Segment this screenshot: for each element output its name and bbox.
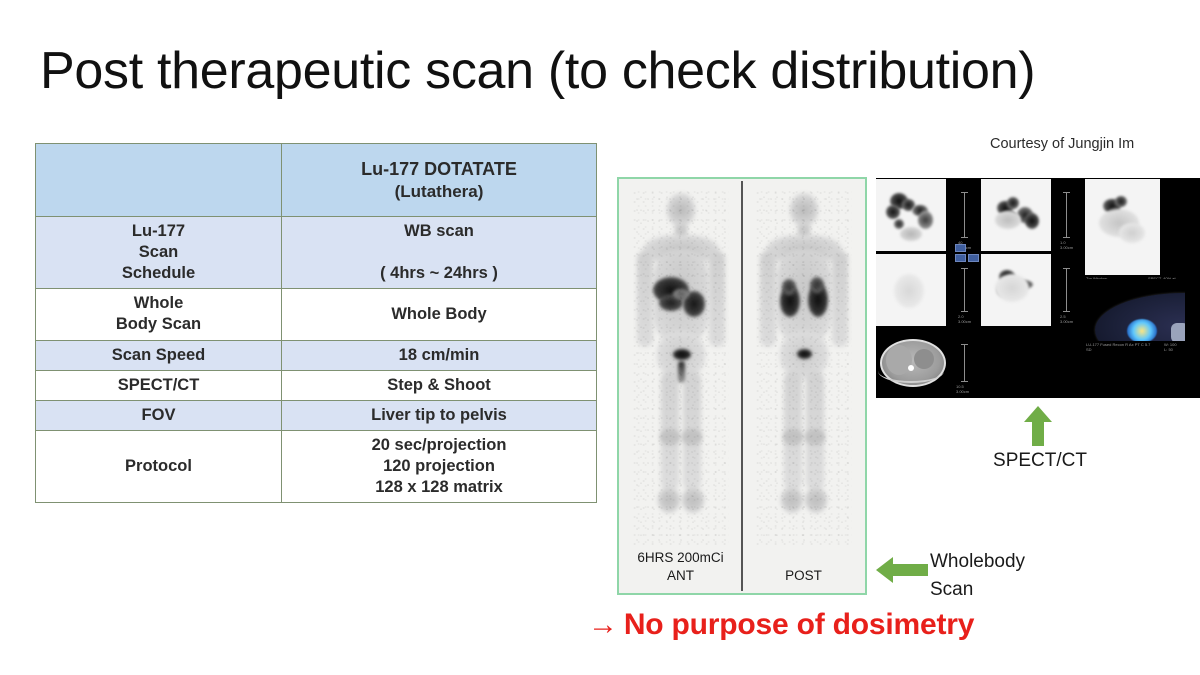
background-tissue (894, 274, 924, 308)
scale-label: 10.5 3.00cm (956, 384, 969, 394)
row-value-protocol: 20 sec/projection 120 projection 128 x 1… (282, 430, 597, 502)
anterior-body-image (633, 191, 729, 547)
fused-footer-label: LU-177 Fused Recon R Ax PT C 5.7 SD (1086, 342, 1150, 352)
dosimetry-note: →No purpose of dosimetry (588, 608, 974, 642)
spect-tile-coronal-4 (981, 254, 1051, 326)
row-label-whole-body-scan: Whole Body Scan (36, 289, 282, 340)
fused-window-label: W: 100 L: 50 (1164, 342, 1177, 352)
head-region (667, 193, 695, 227)
table-row: Lu-177 Scan Schedule WB scan ( 4hrs ~ 24… (36, 217, 597, 289)
spect-tile-coronal-2 (981, 179, 1051, 251)
table-header-row: Lu-177 DOTATATE (Lutathera) (36, 144, 597, 217)
wholebody-scan-panel: 6HRS 200mCi ANT POST (617, 177, 867, 595)
mid-abdomen-uptake-spot (673, 289, 689, 299)
uptake-blob (1025, 213, 1039, 229)
table-row: Scan Speed 18 cm/min (36, 340, 597, 370)
left-arm-region (637, 251, 653, 347)
table-body: Lu-177 DOTATATE (Lutathera) Lu-177 Scan … (36, 144, 597, 503)
right-foot-region (682, 487, 704, 513)
posterior-body-image (756, 191, 852, 547)
bladder-uptake-spot (673, 349, 691, 360)
spect-ct-annotation-label: SPECT/CT (985, 450, 1095, 472)
background-tissue (995, 274, 1029, 302)
left-knee-region (783, 429, 803, 445)
spect-ct-montage: 40 3.00cm 1.0 3.00cm Tm Window SPECT, 40… (876, 178, 1200, 398)
left-foot-region (781, 487, 803, 513)
viewer-control-swatch[interactable] (955, 254, 966, 262)
wholebody-posterior-view: POST (742, 179, 865, 593)
scale-ruler (964, 268, 965, 312)
header-cell-drug: Lu-177 DOTATATE (Lutathera) (282, 144, 597, 217)
right-arrow-icon: → (588, 608, 618, 642)
table-row: Protocol 20 sec/projection 120 projectio… (36, 430, 597, 502)
background-tissue (1119, 223, 1145, 243)
left-knee-region (660, 429, 680, 445)
row-value-whole-body-scan: Whole Body (282, 289, 597, 340)
uptake-blob (1115, 196, 1127, 207)
head-region (790, 193, 818, 227)
bladder-uptake-spot (797, 349, 812, 359)
dosimetry-note-text: No purpose of dosimetry (624, 608, 974, 641)
body-contour (878, 359, 944, 383)
scale-ruler (964, 344, 965, 382)
right-arm-region (832, 251, 848, 347)
right-knee-region (805, 429, 825, 445)
left-kidney-upper-pole-spot (782, 279, 796, 295)
scale-ruler (1066, 192, 1067, 238)
wholebody-annotation-label: Wholebody Scan (930, 548, 1025, 603)
left-arm-region (760, 251, 776, 347)
wholebody-anterior-view: 6HRS 200mCi ANT (619, 179, 742, 593)
table-row: FOV Liver tip to pelvis (36, 400, 597, 430)
background-tissue (995, 211, 1021, 229)
protocol-table: Lu-177 DOTATATE (Lutathera) Lu-177 Scan … (35, 143, 597, 503)
scale-ruler (1066, 268, 1067, 312)
spect-tile-fused-axial (1085, 279, 1185, 341)
drug-brand: (Lutathera) (288, 181, 590, 203)
viewer-control-swatch[interactable] (955, 244, 966, 252)
row-value-scan-speed: 18 cm/min (282, 340, 597, 370)
spect-tile-transverse-1 (1085, 179, 1160, 275)
wholebody-left-arrow-icon (876, 556, 928, 584)
row-label-scan-schedule: Lu-177 Scan Schedule (36, 217, 282, 289)
uptake-blob (894, 219, 904, 229)
viewer-control-swatch[interactable] (968, 254, 979, 262)
right-knee-region (682, 429, 702, 445)
right-foot-region (805, 487, 827, 513)
spect-tile-coronal-1 (876, 179, 946, 251)
right-kidney-upper-pole-spot (810, 277, 824, 293)
view-divider (741, 181, 743, 591)
scale-label: 2.0 3.00cm (958, 314, 971, 324)
header-cell-empty (36, 144, 282, 217)
scale-ruler (964, 192, 965, 238)
row-label-fov: FOV (36, 400, 282, 430)
scale-label: 1.0 3.00cm (1060, 240, 1073, 250)
uptake-blob (1007, 197, 1019, 209)
background-tissue (900, 227, 922, 241)
anterior-caption: 6HRS 200mCi ANT (619, 549, 742, 585)
row-label-scan-speed: Scan Speed (36, 340, 282, 370)
uptake-blob (918, 211, 933, 229)
urethra-uptake-spot (678, 361, 685, 383)
page-title: Post therapeutic scan (to check distribu… (40, 44, 1160, 99)
row-value-spect-ct: Step & Shoot (282, 370, 597, 400)
spect-ct-up-arrow-icon (1023, 406, 1053, 446)
scale-label: 2.5 3.00cm (1060, 314, 1073, 324)
right-arm-region (709, 251, 725, 347)
drug-name: Lu-177 DOTATATE (288, 158, 590, 181)
table-row: Whole Body Scan Whole Body (36, 289, 597, 340)
spect-tile-coronal-3 (876, 254, 946, 326)
row-value-fov: Liver tip to pelvis (282, 400, 597, 430)
row-label-protocol: Protocol (36, 430, 282, 502)
uptake-blob (886, 205, 900, 219)
courtesy-credit: Courtesy of Jungjin Im (990, 136, 1134, 152)
row-label-spect-ct: SPECT/CT (36, 370, 282, 400)
row-value-scan-schedule: WB scan ( 4hrs ~ 24hrs ) (282, 217, 597, 289)
spect-tile-ct-axial (876, 331, 946, 397)
posterior-caption: POST (742, 567, 865, 585)
left-foot-region (658, 487, 680, 513)
table-row: SPECT/CT Step & Shoot (36, 370, 597, 400)
